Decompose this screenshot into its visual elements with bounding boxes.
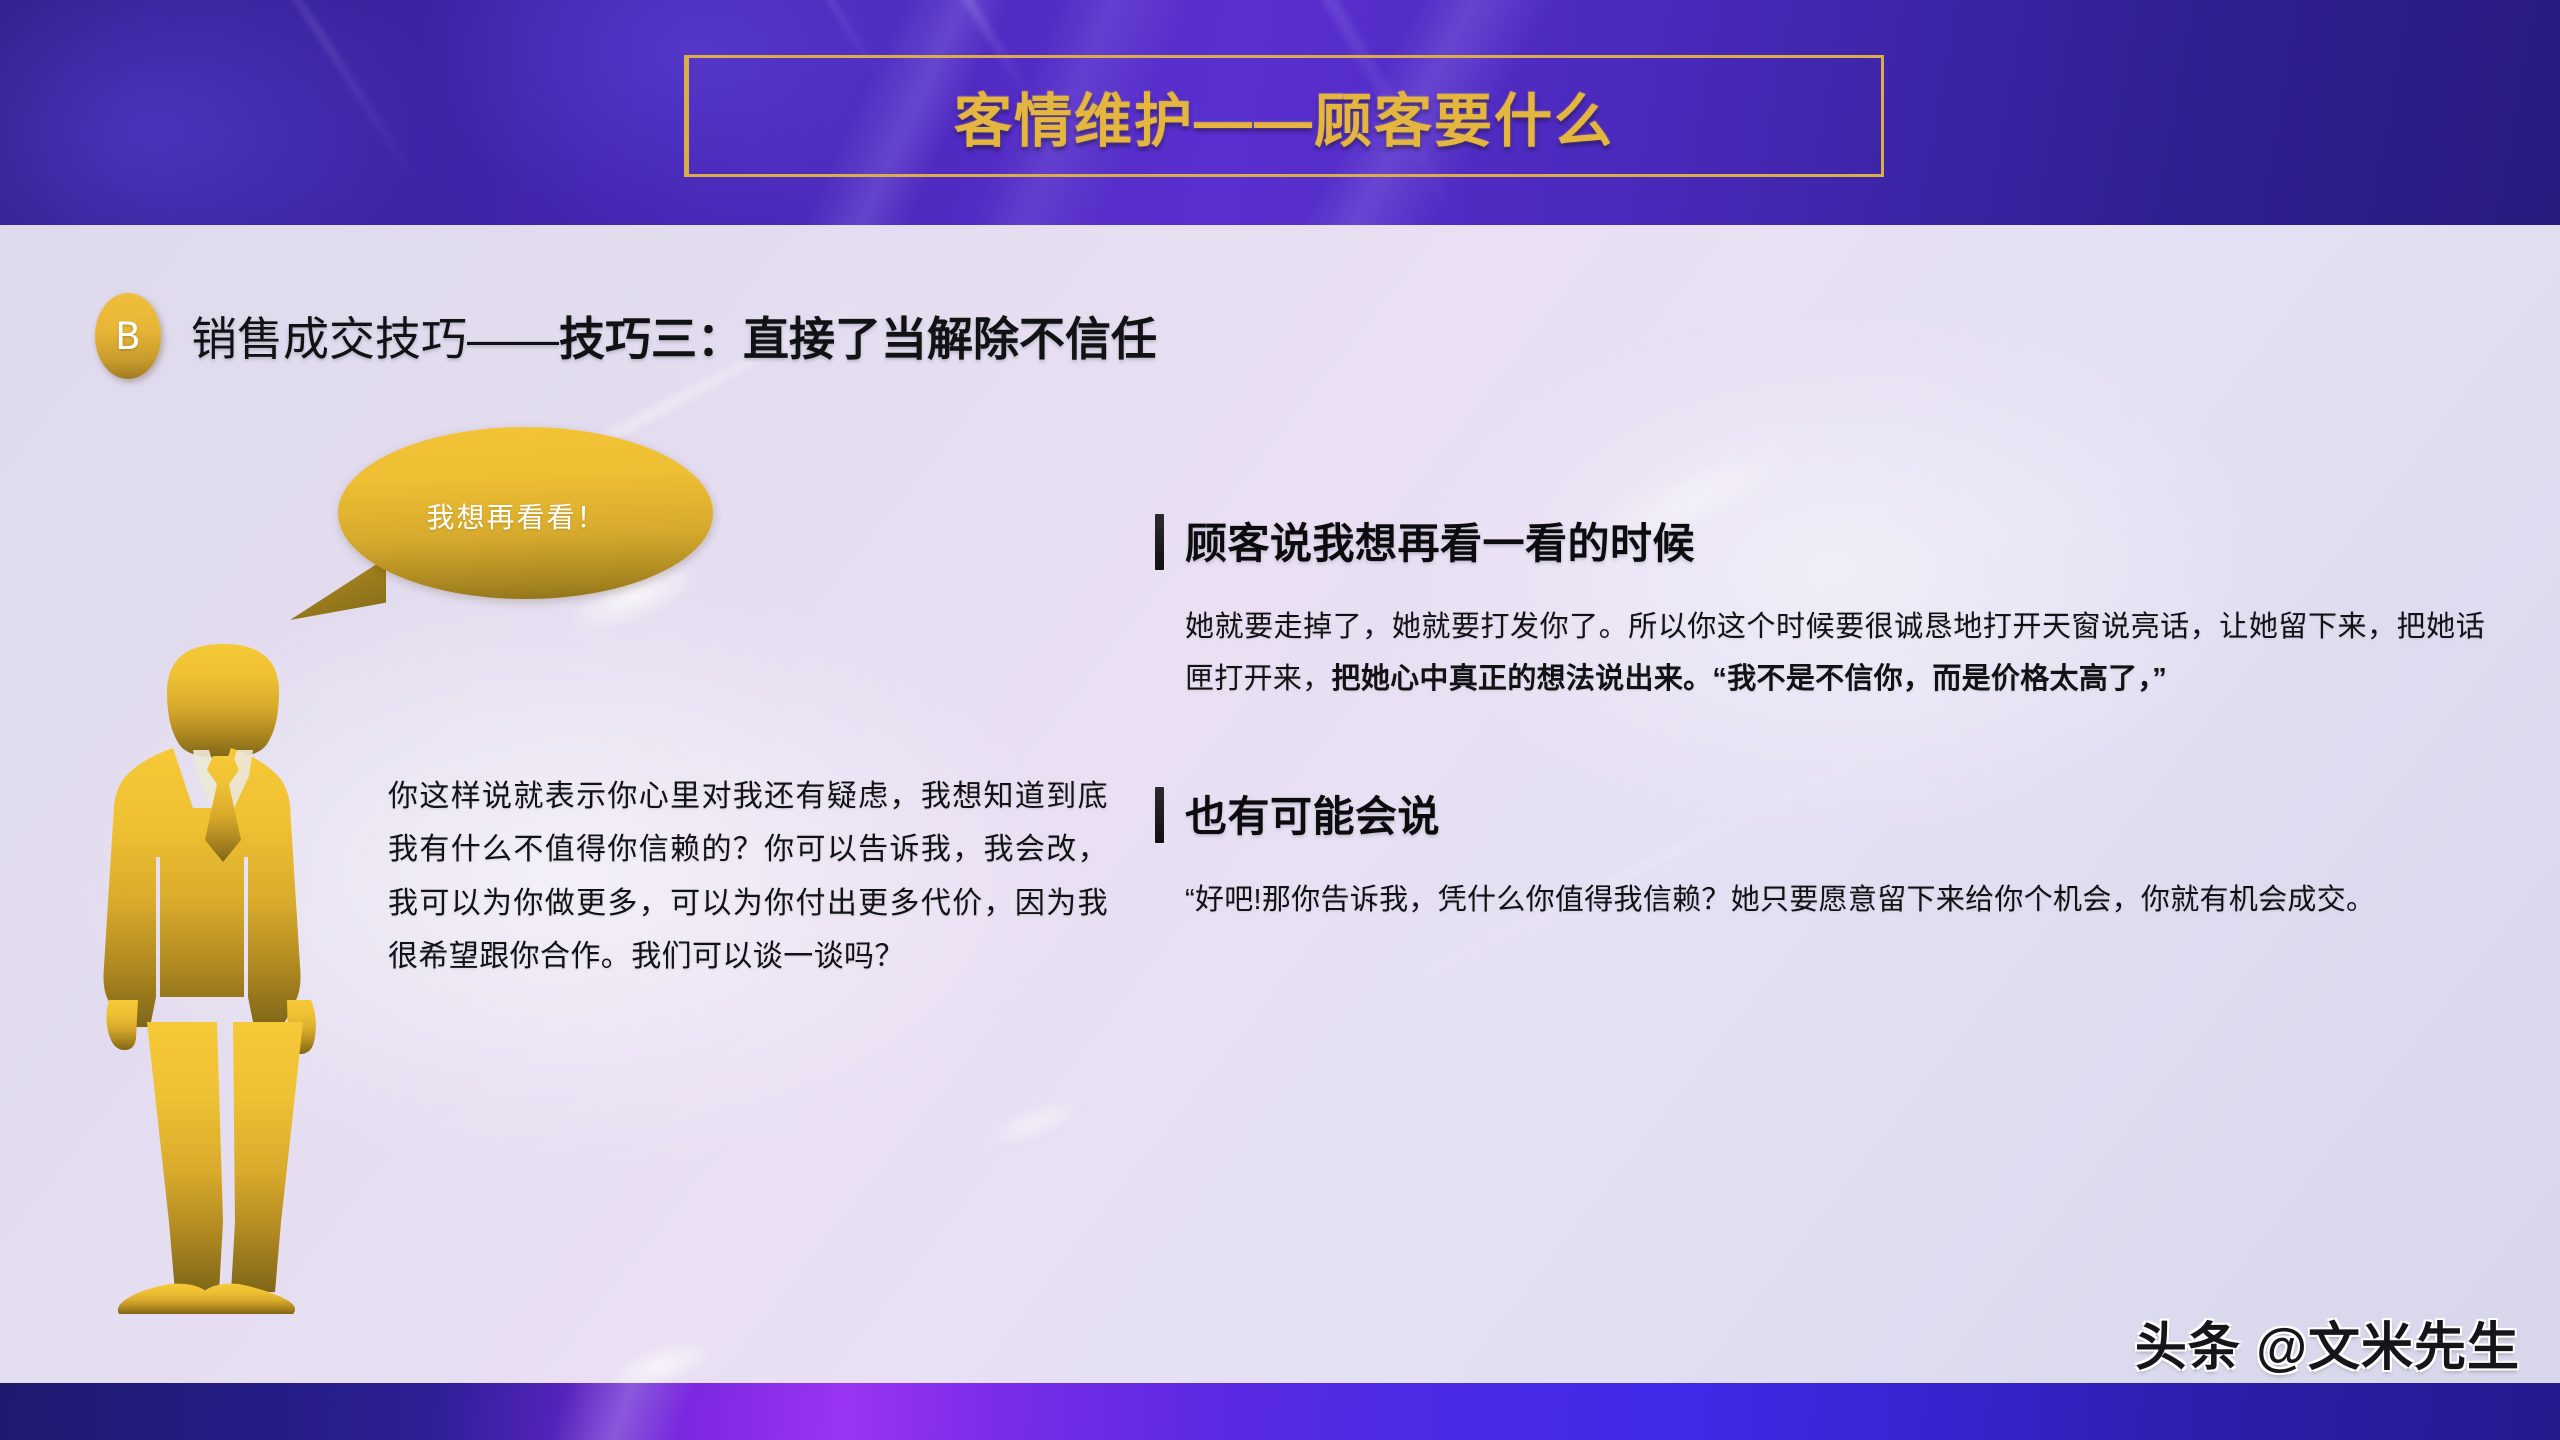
- speech-bubble-text: 我想再看看！: [426, 496, 606, 536]
- section-badge: B: [95, 293, 161, 379]
- speech-bubble: 我想再看看！: [338, 427, 713, 599]
- block-body-normal: “好吧!那你告诉我，凭什么你值得我信赖？她只要愿意留下来给你个机会，你就有机会成…: [1185, 884, 2375, 916]
- body-light-flare: [596, 1327, 723, 1383]
- block-body-bold: 把她心中真正的想法说出来。“我不是不信你，而是价格太高了，”: [1332, 663, 2168, 695]
- content-block: 也有可能会说 “好吧!那你告诉我，凭什么你值得我信赖？她只要愿意留下来给你个机会…: [1155, 783, 2485, 926]
- section-header-row: B 销售成交技巧——技巧三：直接了当解除不信任: [95, 293, 1157, 379]
- block-body: 她就要走掉了，她就要打发你了。所以你这个时候要很诚恳地打开天窗说亮话，让她留下来…: [1185, 601, 2485, 705]
- section-title: 销售成交技巧——技巧三：直接了当解除不信任: [191, 303, 1157, 369]
- body-light-flare: [977, 1087, 1093, 1158]
- content-block: 顾客说我想再看一看的时候 她就要走掉了，她就要打发你了。所以你这个时候要很诚恳地…: [1155, 510, 2485, 705]
- businessman-silhouette-icon: [95, 630, 355, 1330]
- block-body: “好吧!那你告诉我，凭什么你值得我信赖？她只要愿意留下来给你个机会，你就有机会成…: [1185, 874, 2485, 926]
- slide-root: 客情维护——顾客要什么 B 销售成交技巧——技巧三：直接了当解除不信任 我想再看…: [0, 0, 2560, 1440]
- accent-bar: [1155, 787, 1164, 843]
- left-paragraph: 你这样说就表示你心里对我还有疑虑，我想知道到底我有什么不值得你信赖的？你可以告诉…: [388, 770, 1108, 984]
- block-heading: 顾客说我想再看一看的时候: [1185, 510, 2485, 571]
- bottom-band: [0, 1383, 2560, 1440]
- slide-title: 客情维护——顾客要什么: [684, 55, 1884, 177]
- section-badge-letter: B: [115, 318, 140, 355]
- block-heading: 也有可能会说: [1185, 783, 2485, 844]
- accent-bar: [1155, 514, 1164, 570]
- banner-light-streak: [219, 0, 422, 187]
- section-title-emphasis: 技巧三：直接了当解除不信任: [559, 313, 1157, 365]
- watermark: 头条 @文米先生: [2135, 1305, 2520, 1380]
- section-title-prefix: 销售成交技巧——: [191, 313, 559, 365]
- right-column: 顾客说我想再看一看的时候 她就要走掉了，她就要打发你了。所以你这个时候要很诚恳地…: [1155, 510, 2485, 927]
